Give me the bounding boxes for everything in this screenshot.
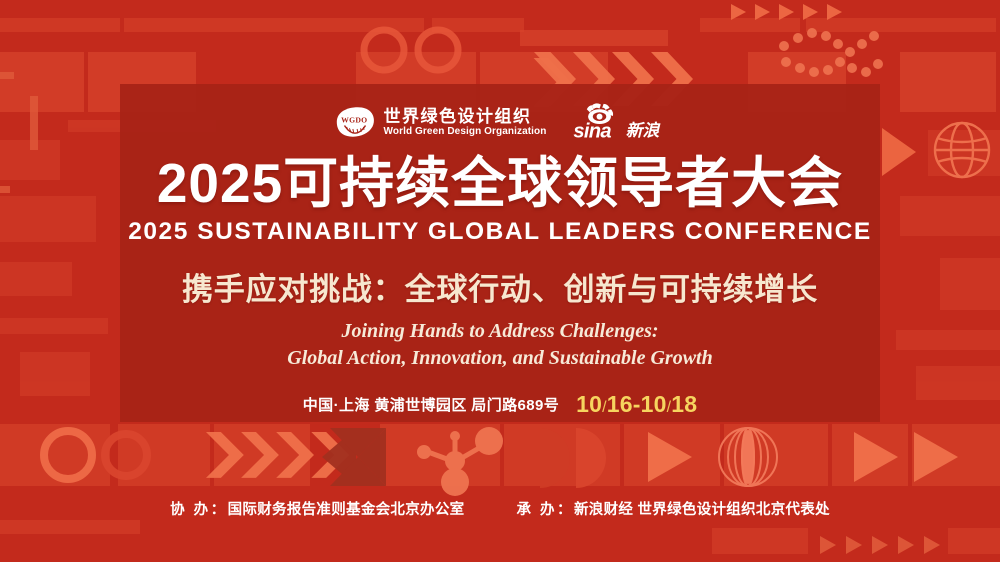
venue-date-row: 中国·上海 黄浦世博园区 局门路689号 10/16-10/18	[303, 391, 697, 418]
conference-title-cn: 2025可持续全球领导者大会	[157, 154, 843, 212]
wgdo-name-en: World Green Design Organization	[384, 127, 547, 137]
co-organizer: 协 办：国际财务报告准则基金会北京办公室	[170, 498, 464, 519]
date-end-day: 18	[671, 391, 697, 417]
logo-row: WGDO 世界绿色设计组织 World Green Design Organiz…	[334, 98, 667, 146]
host-organizer: 承 办：新浪财经 世界绿色设计组织北京代表处	[516, 498, 829, 519]
host-organizer-value: 新浪财经 世界绿色设计组织北京代表处	[574, 502, 830, 518]
host-organizer-label: 承 办：	[516, 502, 574, 518]
date-start-day: 16	[607, 391, 633, 417]
co-organizer-label: 协 办：	[170, 502, 228, 518]
svg-text:sina: sina	[574, 120, 612, 142]
conference-poster: WGDO 世界绿色设计组织 World Green Design Organiz…	[0, 0, 1000, 562]
theme-en-line2: Global Action, Innovation, and Sustainab…	[287, 345, 712, 372]
date-dash: -	[633, 391, 641, 417]
event-dates: 10/16-10/18	[576, 391, 697, 418]
sina-logo: sina 新浪	[572, 102, 666, 142]
date-slash-2: /	[667, 399, 672, 416]
organizers-row: 协 办：国际财务报告准则基金会北京办公室 承 办：新浪财经 世界绿色设计组织北京…	[0, 498, 1000, 519]
venue-text: 中国·上海 黄浦世博园区 局门路689号	[303, 394, 559, 415]
wgdo-logo: WGDO 世界绿色设计组织 World Green Design Organiz…	[334, 105, 547, 139]
conference-title-en: 2025 SUSTAINABILITY GLOBAL LEADERS CONFE…	[128, 218, 872, 246]
theme-en-line1: Joining Hands to Address Challenges:	[287, 318, 712, 345]
svg-text:WGDO: WGDO	[341, 116, 367, 125]
svg-text:新浪: 新浪	[626, 121, 662, 140]
date-start-month: 10	[576, 391, 602, 417]
sina-wordmark-icon: sina 新浪	[572, 102, 666, 142]
wgdo-name-cn: 世界绿色设计组织	[384, 108, 547, 125]
date-end-month: 10	[641, 391, 667, 417]
conference-theme-en: Joining Hands to Address Challenges: Glo…	[287, 318, 712, 371]
conference-theme-cn: 携手应对挑战：全球行动、创新与可持续增长	[182, 264, 818, 309]
date-slash-1: /	[602, 399, 607, 416]
wgdo-emblem-icon: WGDO	[334, 105, 376, 139]
co-organizer-value: 国际财务报告准则基金会北京办公室	[228, 502, 465, 518]
